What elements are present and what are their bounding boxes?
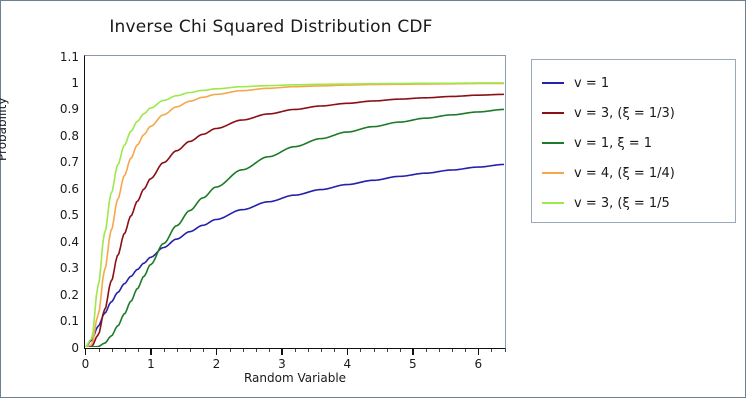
y-tick-label: 0.2: [39, 288, 79, 302]
x-tick-minor: [426, 349, 427, 352]
legend-color-swatch: [542, 142, 564, 145]
page-title: Inverse Chi Squared Distribution CDF: [1, 17, 541, 37]
curve-line: [85, 83, 504, 347]
x-tick-minor: [295, 349, 296, 352]
x-tick-minor: [334, 349, 335, 352]
x-tick-minor: [308, 349, 309, 352]
x-tick-minor: [360, 349, 361, 352]
x-tick-marks: [1, 349, 748, 361]
x-tick-label: 4: [332, 357, 362, 371]
legend-item[interactable]: v = 3, (ξ = 1/3): [542, 104, 675, 122]
curve-line: [85, 84, 504, 347]
legend-box: v = 1v = 3, (ξ = 1/3)v = 1, ξ = 1v = 4, …: [531, 59, 736, 223]
legend-label: v = 3, (ξ = 1/3): [574, 106, 675, 121]
legend-item[interactable]: v = 4, (ξ = 1/4): [542, 164, 675, 182]
y-tick-label: 0.6: [39, 182, 79, 196]
legend-color-swatch: [542, 172, 564, 175]
legend-color-swatch: [542, 202, 564, 205]
curve-line: [85, 164, 504, 347]
curve-line: [85, 94, 504, 347]
x-tick-mark: [216, 349, 218, 355]
plot-curves: [85, 56, 504, 347]
x-tick-minor: [203, 349, 204, 352]
legend-label: v = 1: [574, 76, 609, 91]
y-tick-label: 0.5: [39, 208, 79, 222]
legend-item[interactable]: v = 3, (ξ = 1/5: [542, 194, 670, 212]
x-tick-minor: [177, 349, 178, 352]
legend-label: v = 1, ξ = 1: [574, 136, 652, 151]
x-tick-minor: [439, 349, 440, 352]
x-tick-minor: [452, 349, 453, 352]
x-tick-mark: [478, 349, 480, 355]
x-tick-label: 2: [201, 357, 231, 371]
x-tick-minor: [465, 349, 466, 352]
legend-color-swatch: [542, 112, 564, 115]
x-tick-minor: [230, 349, 231, 352]
x-tick-minor: [164, 349, 165, 352]
chart-page: Inverse Chi Squared Distribution CDF Pro…: [0, 0, 746, 398]
x-tick-label: 5: [398, 357, 428, 371]
x-tick-minor: [491, 349, 492, 352]
x-tick-minor: [125, 349, 126, 352]
y-tick-label: 0.9: [39, 102, 79, 116]
x-tick-mark: [150, 349, 152, 355]
y-tick-labels: 00.10.20.30.40.50.60.70.80.911.1: [35, 1, 79, 401]
x-tick-label: 1: [136, 357, 166, 371]
x-tick-minor: [387, 349, 388, 352]
x-tick-minor: [321, 349, 322, 352]
x-tick-minor: [99, 349, 100, 352]
x-tick-mark: [412, 349, 414, 355]
x-tick-minor: [400, 349, 401, 352]
legend-label: v = 4, (ξ = 1/4): [574, 166, 675, 181]
x-tick-label: 0: [71, 357, 101, 371]
legend-item[interactable]: v = 1, ξ = 1: [542, 134, 652, 152]
y-tick-label: 0.7: [39, 155, 79, 169]
x-tick-minor: [112, 349, 113, 352]
y-tick-label: 0.1: [39, 314, 79, 328]
y-tick-label: 0.3: [39, 261, 79, 275]
x-tick-minor: [138, 349, 139, 352]
x-tick-minor: [256, 349, 257, 352]
x-tick-minor: [243, 349, 244, 352]
x-tick-label: 6: [463, 357, 493, 371]
x-tick-label: 3: [267, 357, 297, 371]
y-tick-label: 0.4: [39, 235, 79, 249]
y-tick-label: 1.1: [39, 50, 79, 64]
x-tick-mark: [281, 349, 283, 355]
legend-color-swatch: [542, 82, 564, 85]
x-tick-minor: [190, 349, 191, 352]
x-axis-label: Random Variable: [84, 371, 506, 385]
x-tick-minor: [269, 349, 270, 352]
y-axis-label: Probability: [0, 98, 9, 161]
plot-area: [84, 55, 506, 349]
x-tick-minor: [374, 349, 375, 352]
y-tick-label: 1: [39, 76, 79, 90]
x-tick-mark: [347, 349, 349, 355]
x-tick-mark: [85, 349, 87, 355]
curve-line: [85, 109, 504, 347]
y-tick-label: 0.8: [39, 129, 79, 143]
legend-label: v = 3, (ξ = 1/5: [574, 196, 670, 211]
x-tick-minor: [505, 349, 506, 352]
legend-item[interactable]: v = 1: [542, 74, 609, 92]
